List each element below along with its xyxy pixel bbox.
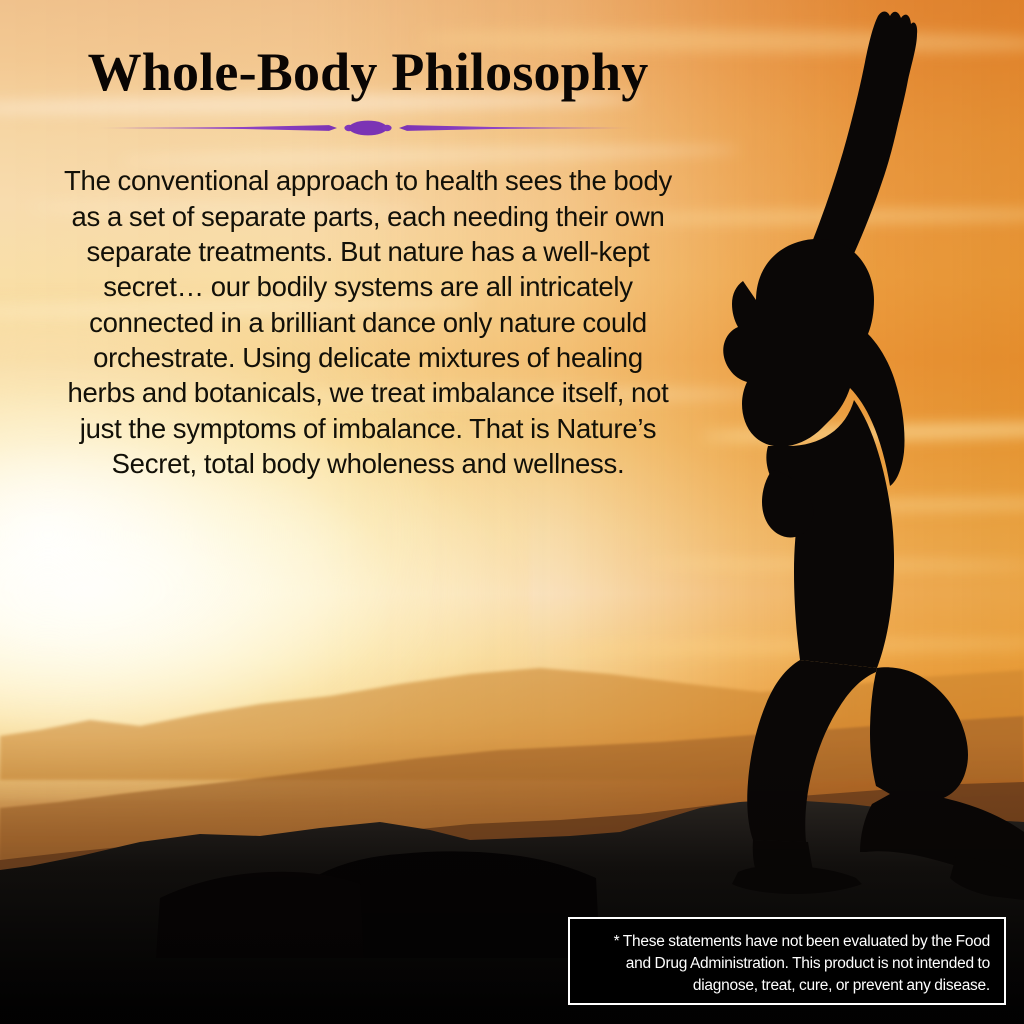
- page-title: Whole-Body Philosophy: [38, 44, 698, 101]
- poster-canvas: Whole-Body Philosophy: [0, 0, 1024, 1024]
- fda-disclaimer-box: * These statements have not been evaluat…: [568, 917, 1006, 1005]
- ornamental-divider-icon: [93, 119, 643, 137]
- text-panel: Whole-Body Philosophy: [38, 44, 698, 481]
- fda-disclaimer-text: * These statements have not been evaluat…: [570, 919, 1004, 1007]
- philosophy-body-text: The conventional approach to health sees…: [59, 163, 677, 481]
